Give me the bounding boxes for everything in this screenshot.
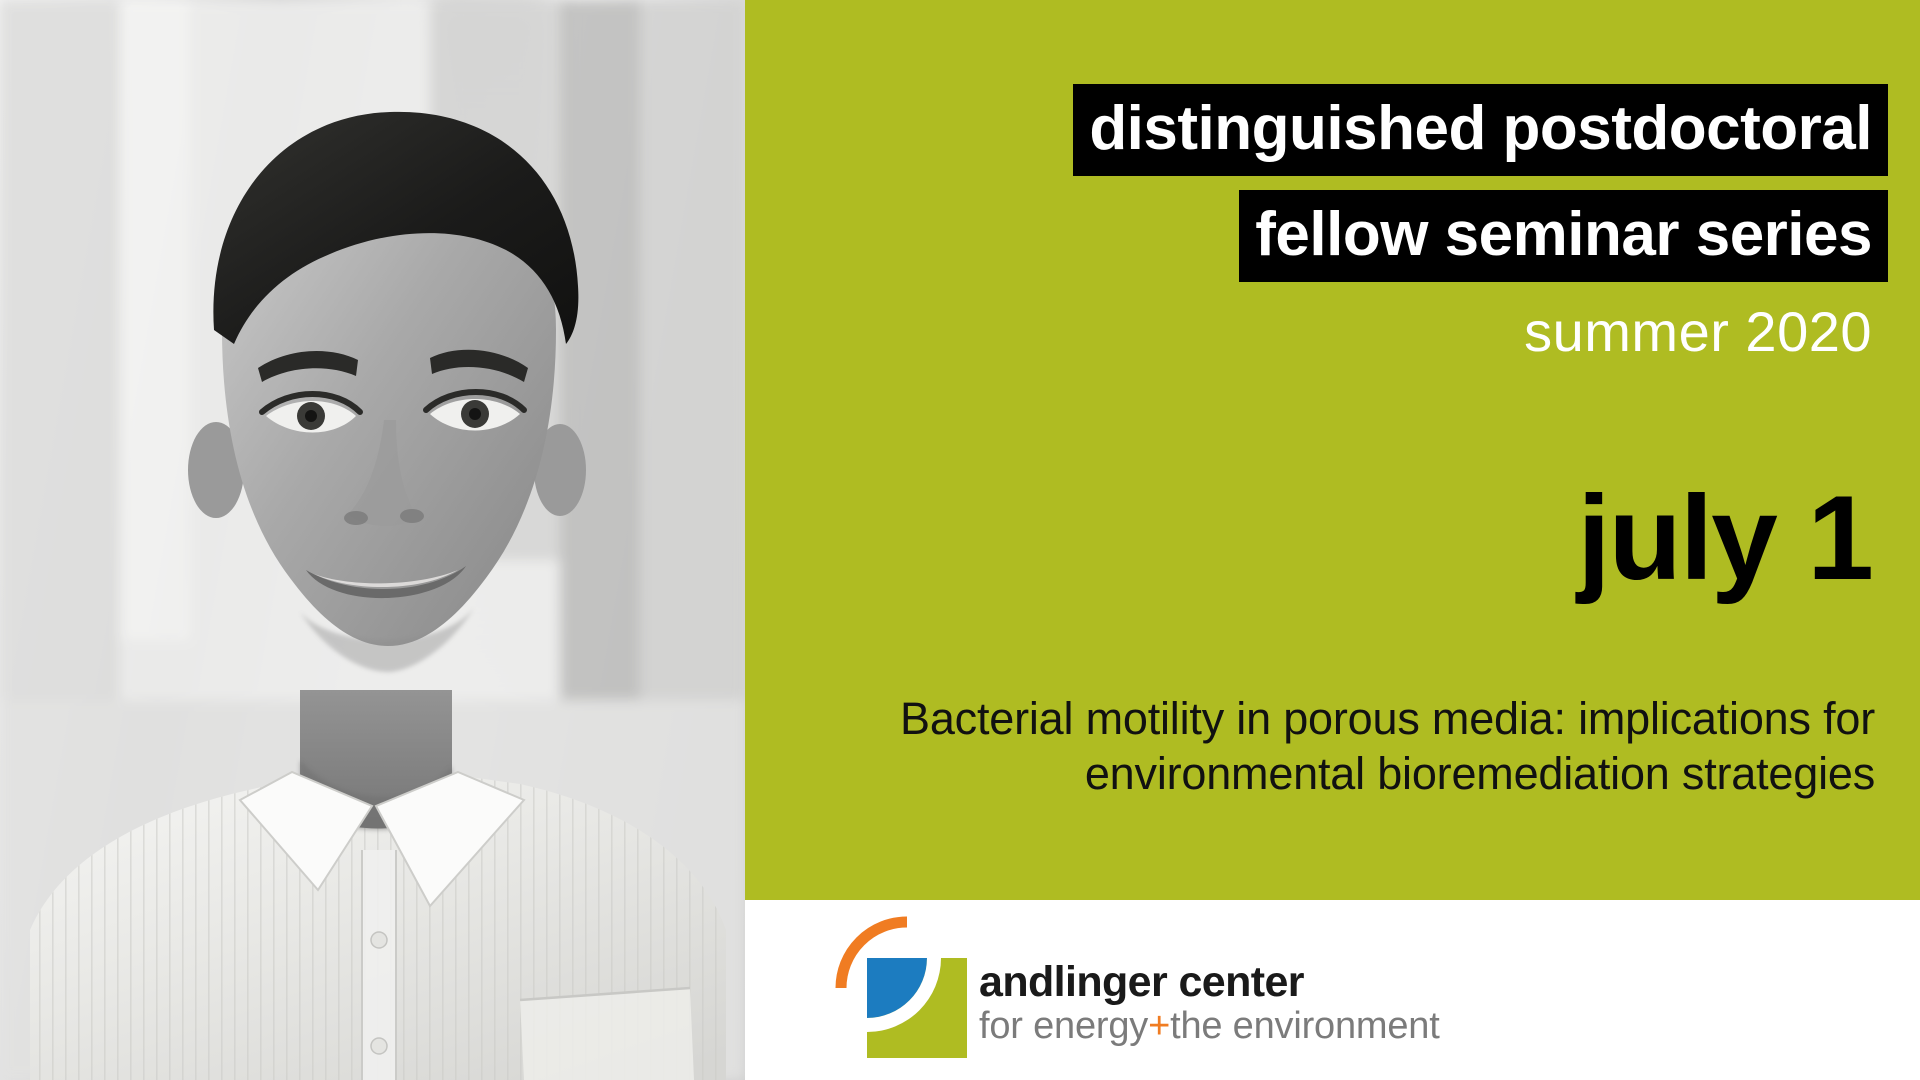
talk-title-line-2: environmental bioremediation strategies [1085, 748, 1875, 799]
series-title-line-1: distinguished postdoctoral [1073, 84, 1888, 176]
series-title-line-2: fellow seminar series [1239, 190, 1888, 282]
speaker-photo [0, 0, 745, 1080]
event-date: july 1 [745, 478, 1920, 598]
logo-tagline: for energy+the environment [979, 1005, 1440, 1048]
series-title-line-2-row: fellow seminar series [745, 176, 1888, 282]
logo-tagline-part-2: the environment [1170, 1005, 1440, 1047]
speaker-portrait-illustration [0, 0, 745, 1080]
footer-bar: andlinger center for energy+the environm… [745, 900, 1920, 1080]
logo-plus-icon: + [1148, 1005, 1170, 1047]
seminar-poster: distinguished postdoctoral fellow semina… [0, 0, 1920, 1080]
series-title-line-1-row: distinguished postdoctoral [745, 0, 1888, 176]
series-title-block: distinguished postdoctoral fellow semina… [745, 0, 1920, 360]
logo-wordmark: andlinger center for energy+the environm… [979, 960, 1440, 1062]
andlinger-center-logo[interactable]: andlinger center for energy+the environm… [833, 914, 1440, 1062]
andlinger-center-mark-icon [833, 914, 971, 1062]
series-subtitle: summer 2020 [745, 304, 1888, 360]
talk-title-line-1: Bacterial motility in porous media: impl… [900, 693, 1875, 744]
talk-title: Bacterial motility in porous media: impl… [815, 692, 1875, 802]
logo-mark-svg [833, 914, 971, 1062]
logo-tagline-part-1: for energy [979, 1005, 1148, 1047]
content-panel: distinguished postdoctoral fellow semina… [745, 0, 1920, 900]
logo-name: andlinger center [979, 960, 1440, 1006]
